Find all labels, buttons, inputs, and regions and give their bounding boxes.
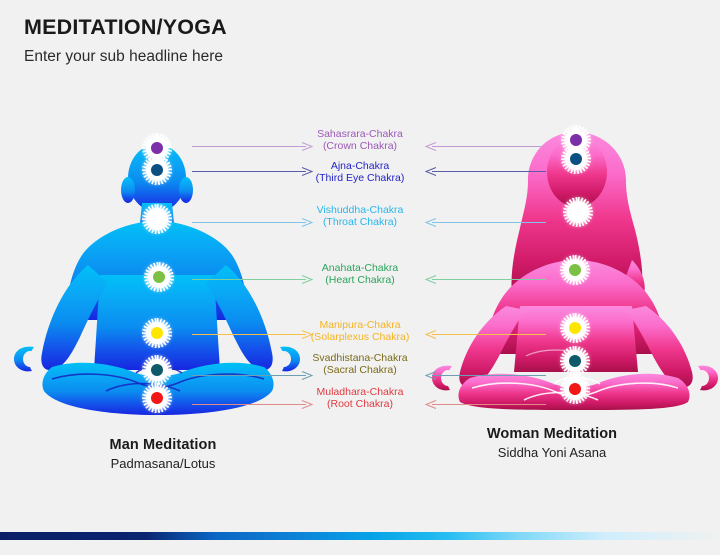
chakra-label-muladhara: Muladhara-Chakra(Root Chakra) bbox=[265, 386, 455, 411]
man-caption-title: Man Meditation bbox=[33, 437, 293, 453]
chakra-label-subtitle: (Heart Chakra) bbox=[265, 274, 455, 286]
woman-chakra-orb-vishuddha bbox=[567, 201, 589, 223]
chakra-orb-core bbox=[150, 212, 164, 226]
footer-accent-bar bbox=[0, 532, 720, 540]
chakra-label-sahasrara: Sahasrara-Chakra(Crown Chakra) bbox=[265, 128, 455, 153]
man-chakra-orb-ajna bbox=[146, 159, 168, 181]
chakra-label-subtitle: (Third Eye Chakra) bbox=[265, 172, 455, 184]
chakra-label-name: Anahata-Chakra bbox=[265, 262, 455, 274]
chakra-orb-core bbox=[570, 134, 582, 146]
chakra-orb-core bbox=[570, 153, 582, 165]
man-chakra-orb-muladhara bbox=[146, 387, 168, 409]
chakra-label-subtitle: (Throat Chakra) bbox=[265, 216, 455, 228]
chakra-label-subtitle: (Sacral Chakra) bbox=[265, 364, 455, 376]
chakra-label-name: Svadhistana-Chakra bbox=[265, 352, 455, 364]
chakra-orb-core bbox=[569, 355, 581, 367]
chakra-label-svadhistana: Svadhistana-Chakra(Sacral Chakra) bbox=[265, 352, 455, 377]
slide-canvas: MEDITATION/YOGA Enter your sub headline … bbox=[0, 0, 720, 540]
chakra-label-subtitle: (Root Chakra) bbox=[265, 398, 455, 410]
woman-caption-subtitle: Siddha Yoni Asana bbox=[422, 445, 682, 460]
page-title: MEDITATION/YOGA bbox=[24, 15, 227, 40]
chakra-orb-core bbox=[569, 383, 581, 395]
woman-chakra-orb-svadhistana bbox=[564, 350, 586, 372]
woman-chakra-orb-ajna bbox=[565, 148, 587, 170]
chakra-label-ajna: Ajna-Chakra(Third Eye Chakra) bbox=[265, 160, 455, 185]
chakra-orb-core bbox=[151, 164, 163, 176]
chakra-label-subtitle: (Crown Chakra) bbox=[265, 140, 455, 152]
page-subtitle: Enter your sub headline here bbox=[24, 48, 223, 66]
chakra-orb-core bbox=[569, 264, 581, 276]
chakra-orb-core bbox=[151, 364, 163, 376]
man-caption-subtitle: Padmasana/Lotus bbox=[33, 456, 293, 471]
chakra-label-name: Muladhara-Chakra bbox=[265, 386, 455, 398]
man-chakra-orb-vishuddha bbox=[146, 208, 168, 230]
chakra-label-subtitle: (Solarplexus Chakra) bbox=[265, 331, 455, 343]
woman-chakra-orb-anahata bbox=[564, 259, 586, 281]
chakra-orb-core bbox=[153, 271, 165, 283]
man-chakra-orb-svadhistana bbox=[146, 359, 168, 381]
chakra-label-manipura: Manipura-Chakra(Solarplexus Chakra) bbox=[265, 319, 455, 344]
chakra-label-name: Ajna-Chakra bbox=[265, 160, 455, 172]
woman-chakra-orb-muladhara bbox=[564, 378, 586, 400]
chakra-orb-core bbox=[569, 322, 581, 334]
chakra-orb-core bbox=[151, 142, 163, 154]
chakra-orb-core bbox=[151, 392, 163, 404]
man-chakra-orb-anahata bbox=[148, 266, 170, 288]
chakra-label-name: Vishuddha-Chakra bbox=[265, 204, 455, 216]
man-caption: Man Meditation Padmasana/Lotus bbox=[33, 437, 293, 471]
woman-chakra-orb-manipura bbox=[564, 317, 586, 339]
chakra-label-anahata: Anahata-Chakra(Heart Chakra) bbox=[265, 262, 455, 287]
man-chakra-orb-manipura bbox=[146, 322, 168, 344]
chakra-label-name: Manipura-Chakra bbox=[265, 319, 455, 331]
woman-caption-title: Woman Meditation bbox=[422, 426, 682, 442]
chakra-label-vishuddha: Vishuddha-Chakra(Throat Chakra) bbox=[265, 204, 455, 229]
chakra-orb-core bbox=[571, 205, 585, 219]
woman-caption: Woman Meditation Siddha Yoni Asana bbox=[422, 426, 682, 460]
chakra-label-name: Sahasrara-Chakra bbox=[265, 128, 455, 140]
chakra-orb-core bbox=[151, 327, 163, 339]
